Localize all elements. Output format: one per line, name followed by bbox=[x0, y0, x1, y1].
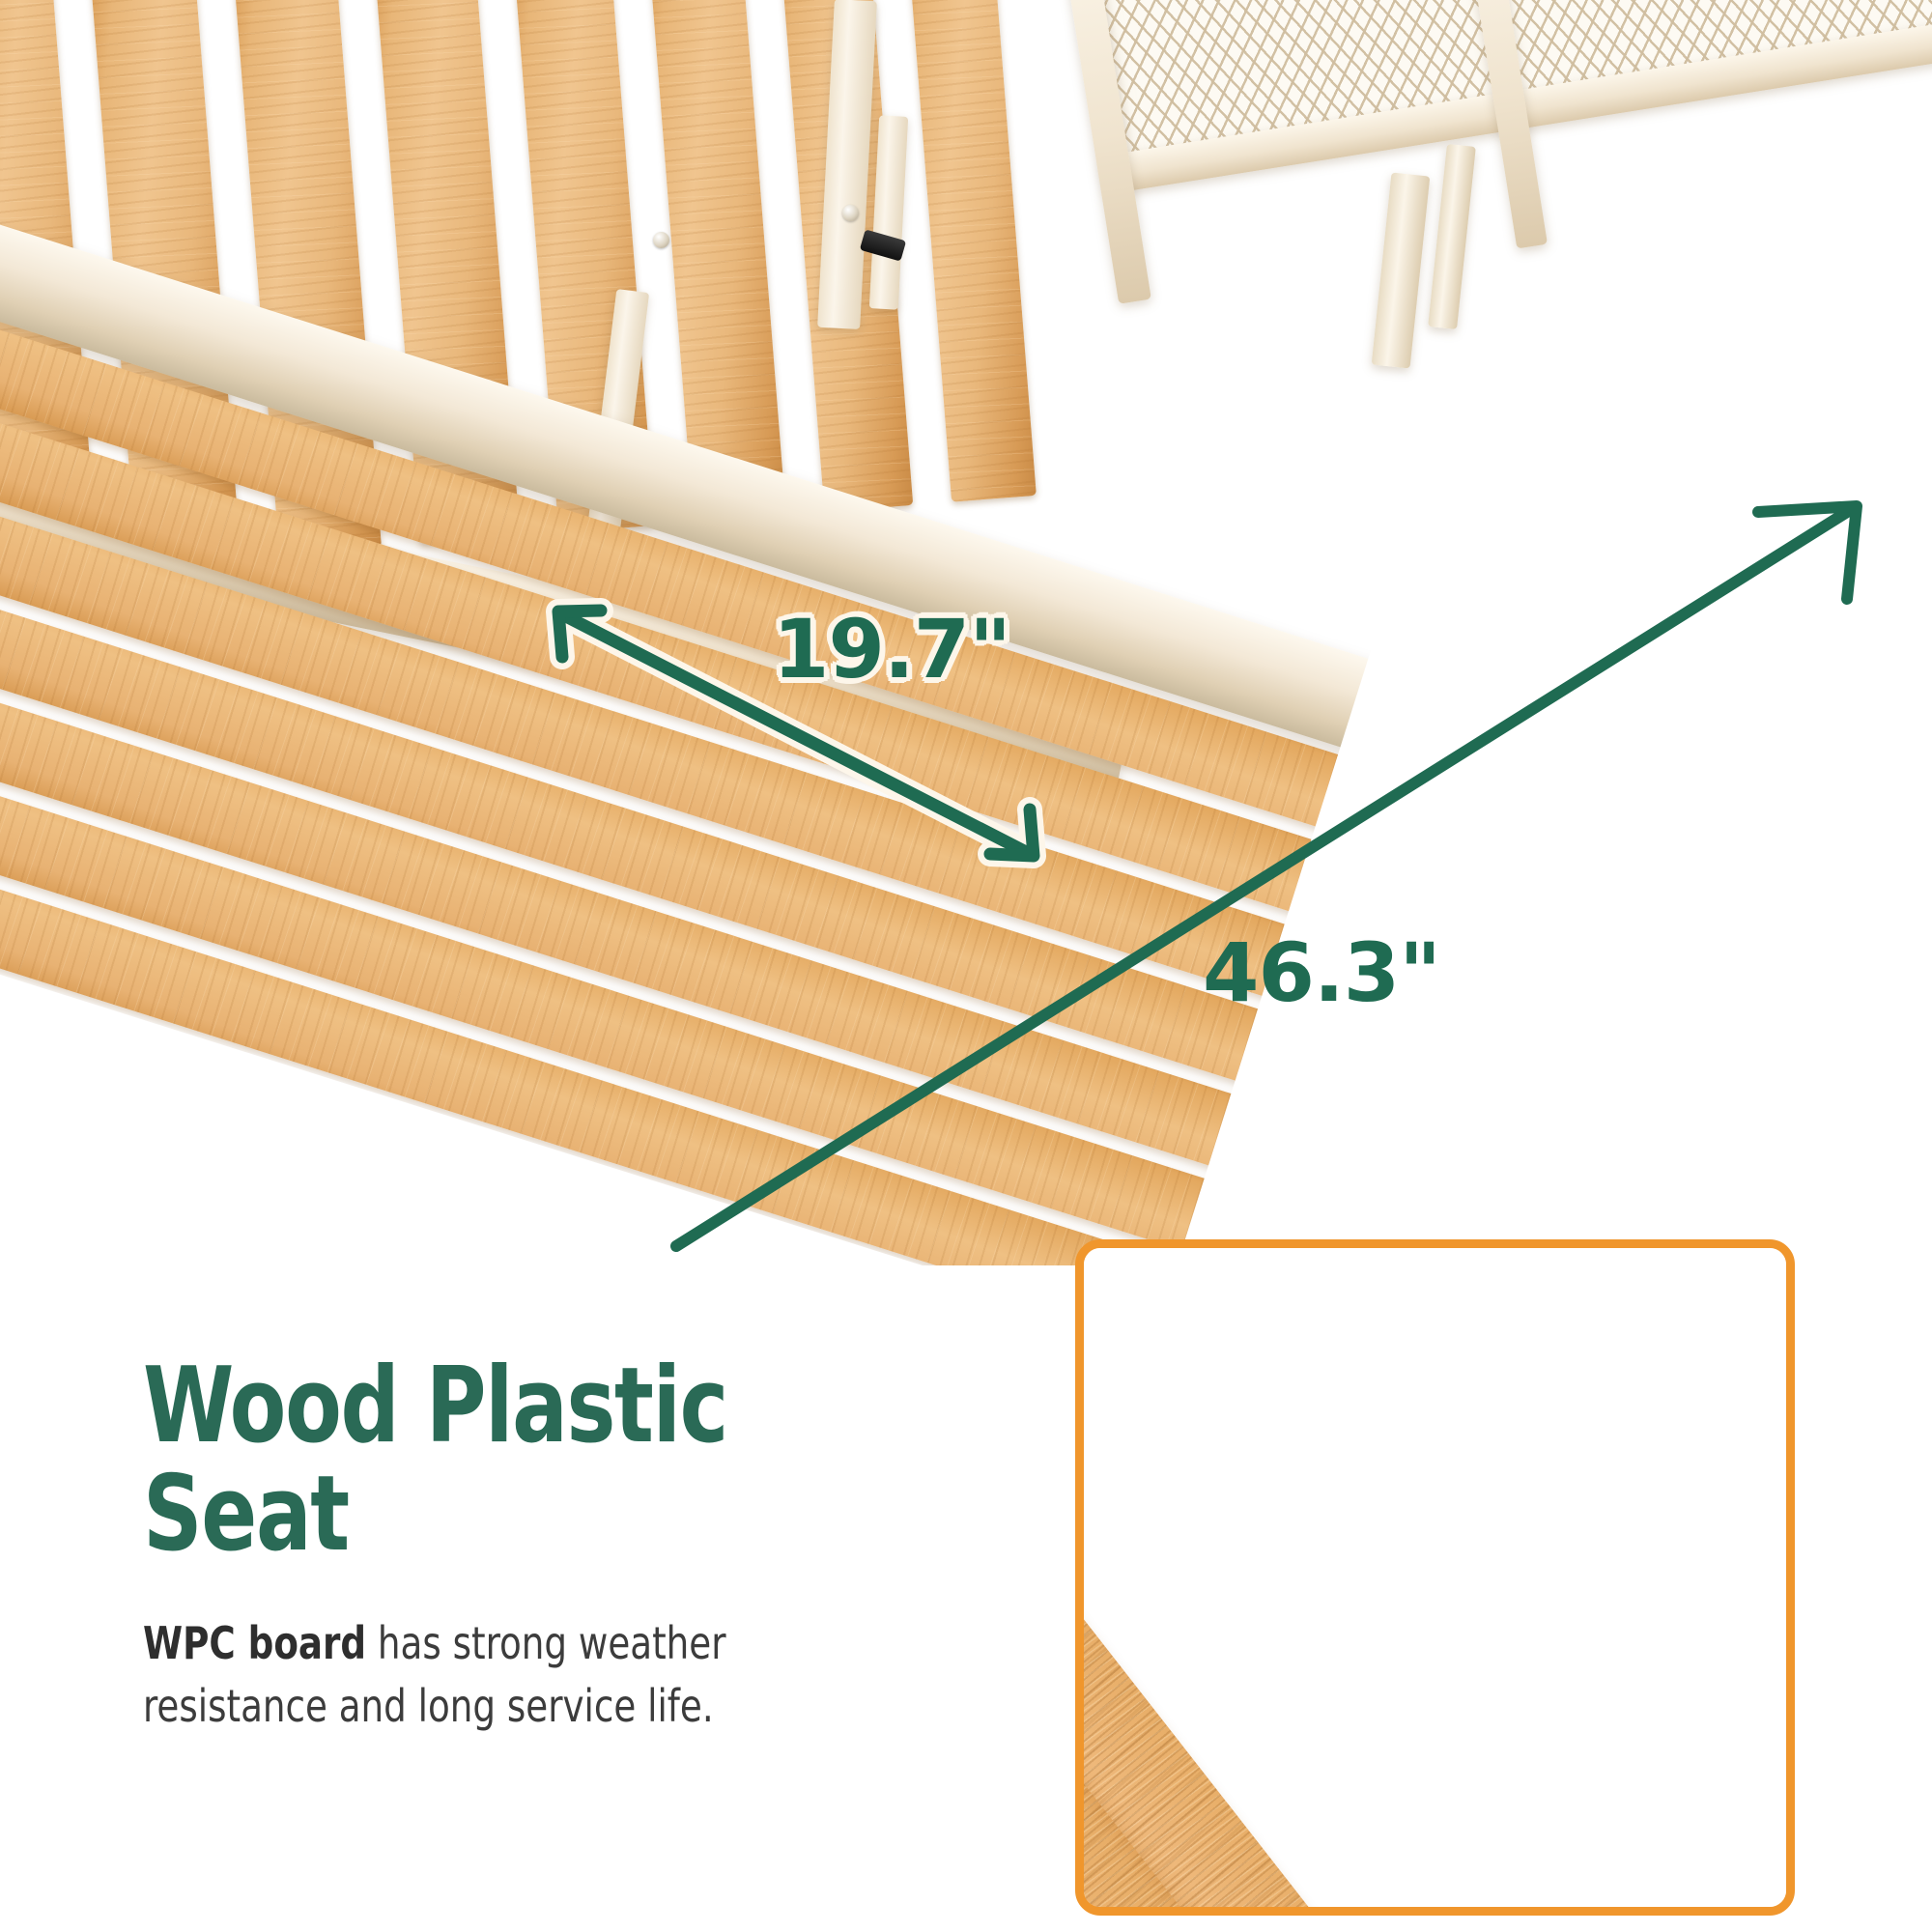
feature-description-bold: WPC board bbox=[143, 1617, 366, 1669]
product-photo bbox=[0, 0, 1932, 1265]
feature-headline: Wood Plastic Seat bbox=[143, 1352, 823, 1570]
feature-headline-line1: Wood Plastic bbox=[143, 1346, 727, 1466]
marketing-image: 19.7" 46.3" Wood Plastic Seat WPC board … bbox=[0, 0, 1932, 1932]
bench-side-table bbox=[1043, 0, 1932, 390]
screw-head-backrest-2 bbox=[653, 232, 669, 248]
feature-headline-line2: Seat bbox=[143, 1454, 349, 1575]
texture-detail-inset bbox=[1075, 1239, 1795, 1916]
feature-description: WPC board has strong weather resistance … bbox=[143, 1612, 856, 1739]
screw-head-backrest bbox=[842, 205, 859, 221]
feature-copy-block: Wood Plastic Seat WPC board has strong w… bbox=[143, 1352, 916, 1738]
texture-detail-image bbox=[1084, 1248, 1786, 1907]
detail-slat bbox=[1084, 1248, 1690, 1907]
